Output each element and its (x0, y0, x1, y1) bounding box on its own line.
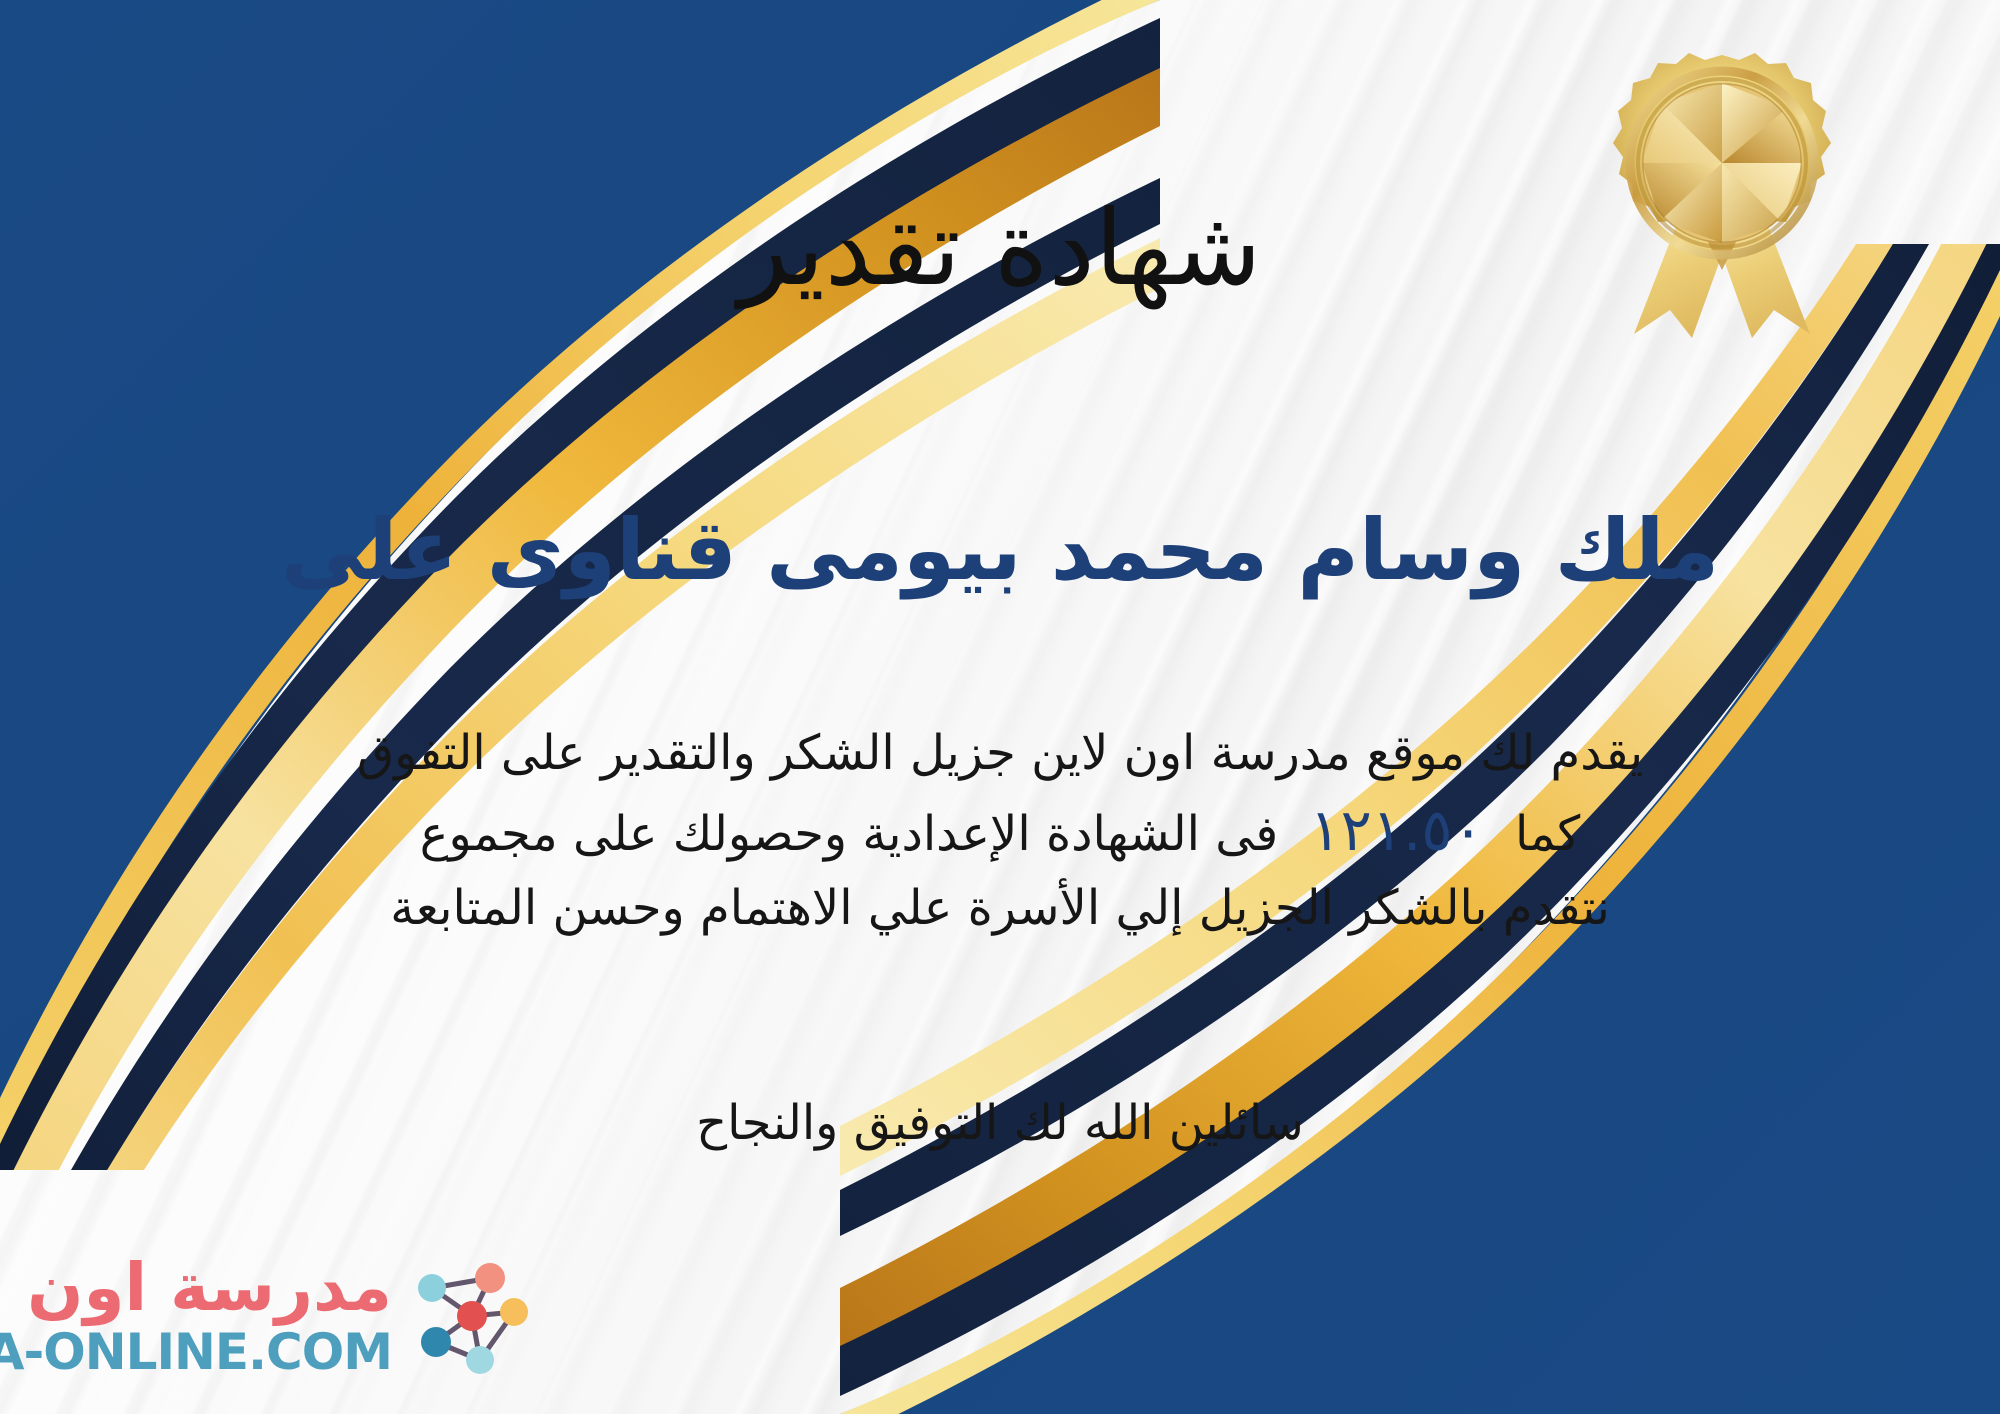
body-line-2: كما ١٢١.٥٠ فى الشهادة الإعدادية وحصولك ع… (215, 788, 1785, 873)
brand-name-arabic: مدرسة اون لاين (0, 1255, 392, 1321)
network-nodes-logo-icon (402, 1250, 534, 1382)
closing-wish: سائلين الله لك التوفيق والنجاح (0, 1090, 2000, 1157)
certificate-body: يقدم لك موقع مدرسة اون لاين جزيل الشكر و… (0, 718, 2000, 943)
body-line-3: نتقدم بالشكر الجزيل إلي الأسرة علي الاهت… (215, 873, 1785, 943)
certificate-canvas: شهادة تقدير ملك وسام محمد بيومى قناوى عل… (0, 0, 2000, 1414)
body-line-2-prefix: فى الشهادة الإعدادية وحصولك على مجموع (420, 806, 1278, 862)
body-line-2-suffix: كما (1515, 806, 1580, 862)
total-score-value: ١٢١.٥٠ (1293, 788, 1499, 873)
body-line-1: يقدم لك موقع مدرسة اون لاين جزيل الشكر و… (215, 718, 1785, 788)
brand-website-url[interactable]: MADRSA-ONLINE.COM (0, 1327, 392, 1377)
recipient-name: ملك وسام محمد بيومى قناوى على (0, 500, 2000, 601)
brand-text-group: مدرسة اون لاين MADRSA-ONLINE.COM (0, 1255, 392, 1377)
site-logo[interactable]: مدرسة اون لاين MADRSA-ONLINE.COM (14, 1236, 534, 1396)
certificate-title: شهادة تقدير (0, 190, 2000, 306)
